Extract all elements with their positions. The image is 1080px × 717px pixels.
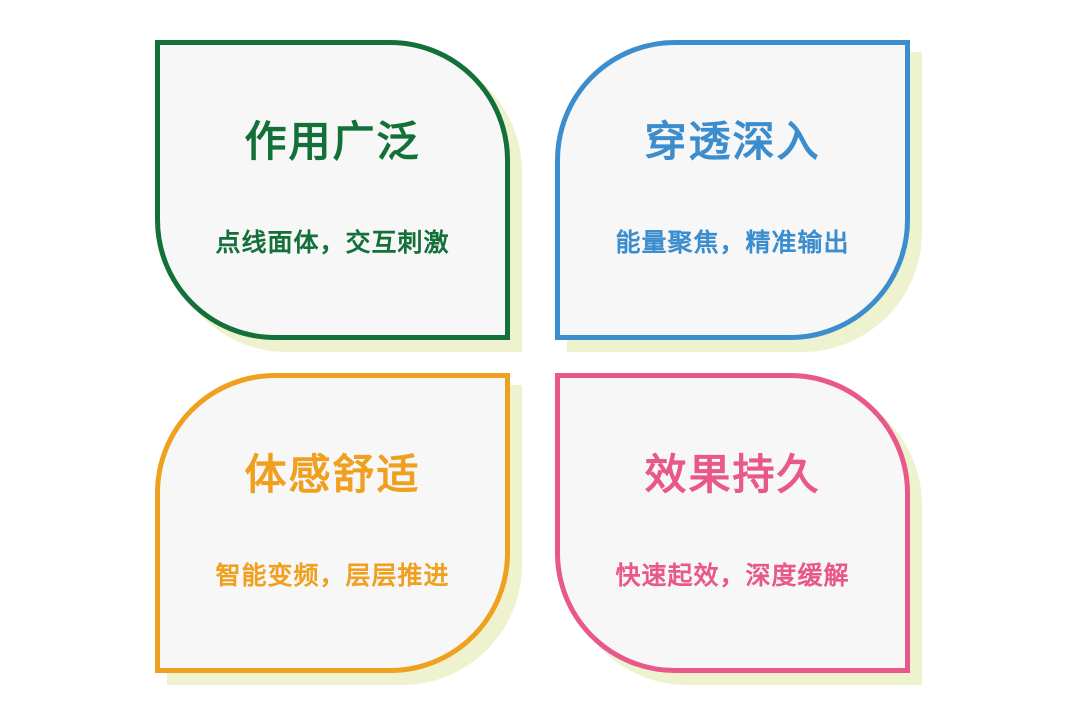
card-body[interactable]: 作用广泛 点线面体，交互刺激	[155, 40, 510, 340]
card-subtitle: 点线面体，交互刺激	[215, 231, 449, 256]
card-title: 效果持久	[644, 454, 820, 496]
feature-card-effect-broad[interactable]: 作用广泛 点线面体，交互刺激	[155, 40, 510, 340]
card-body[interactable]: 体感舒适 智能变频，层层推进	[155, 373, 510, 673]
card-subtitle: 智能变频，层层推进	[215, 564, 449, 589]
card-body[interactable]: 穿透深入 能量聚焦，精准输出	[555, 40, 910, 340]
card-subtitle: 快速起效，深度缓解	[615, 564, 849, 589]
card-title: 体感舒适	[244, 454, 420, 496]
infographic-canvas: 作用广泛 点线面体，交互刺激 穿透深入 能量聚焦，精准输出 体感舒适 智能变频，…	[0, 0, 1080, 717]
card-title: 穿透深入	[644, 121, 820, 163]
feature-card-feel-comfortable[interactable]: 体感舒适 智能变频，层层推进	[155, 373, 510, 673]
feature-card-penetration-deep[interactable]: 穿透深入 能量聚焦，精准输出	[555, 40, 910, 340]
card-subtitle: 能量聚焦，精准输出	[615, 231, 849, 256]
card-title: 作用广泛	[244, 121, 420, 163]
petal-card-grid: 作用广泛 点线面体，交互刺激 穿透深入 能量聚焦，精准输出 体感舒适 智能变频，…	[155, 40, 925, 685]
feature-card-effect-lasting[interactable]: 效果持久 快速起效，深度缓解	[555, 373, 910, 673]
card-body[interactable]: 效果持久 快速起效，深度缓解	[555, 373, 910, 673]
